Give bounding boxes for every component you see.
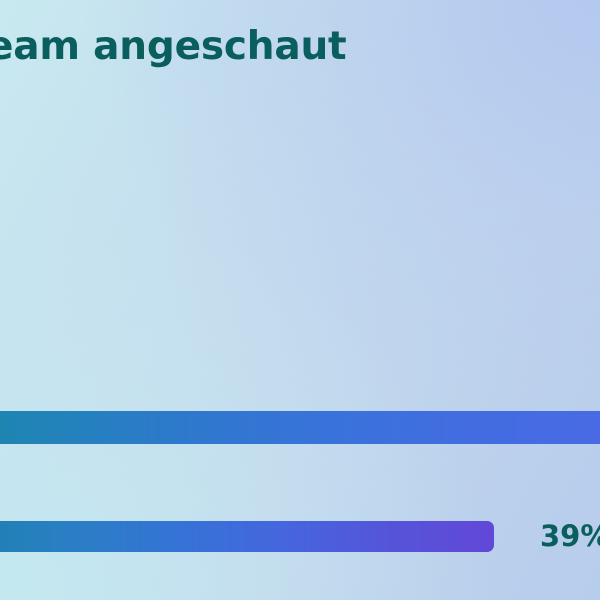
bar-row: 39% — [0, 521, 600, 552]
bar-fill — [0, 521, 494, 552]
background-tint-bottom-left — [0, 0, 600, 600]
chart-canvas: eam angeschaut 39% — [0, 0, 600, 600]
chart-title: eam angeschaut — [0, 24, 346, 71]
bar-row — [0, 411, 600, 444]
bar-fill — [0, 411, 600, 444]
bar-value-label: 39% — [540, 521, 600, 552]
